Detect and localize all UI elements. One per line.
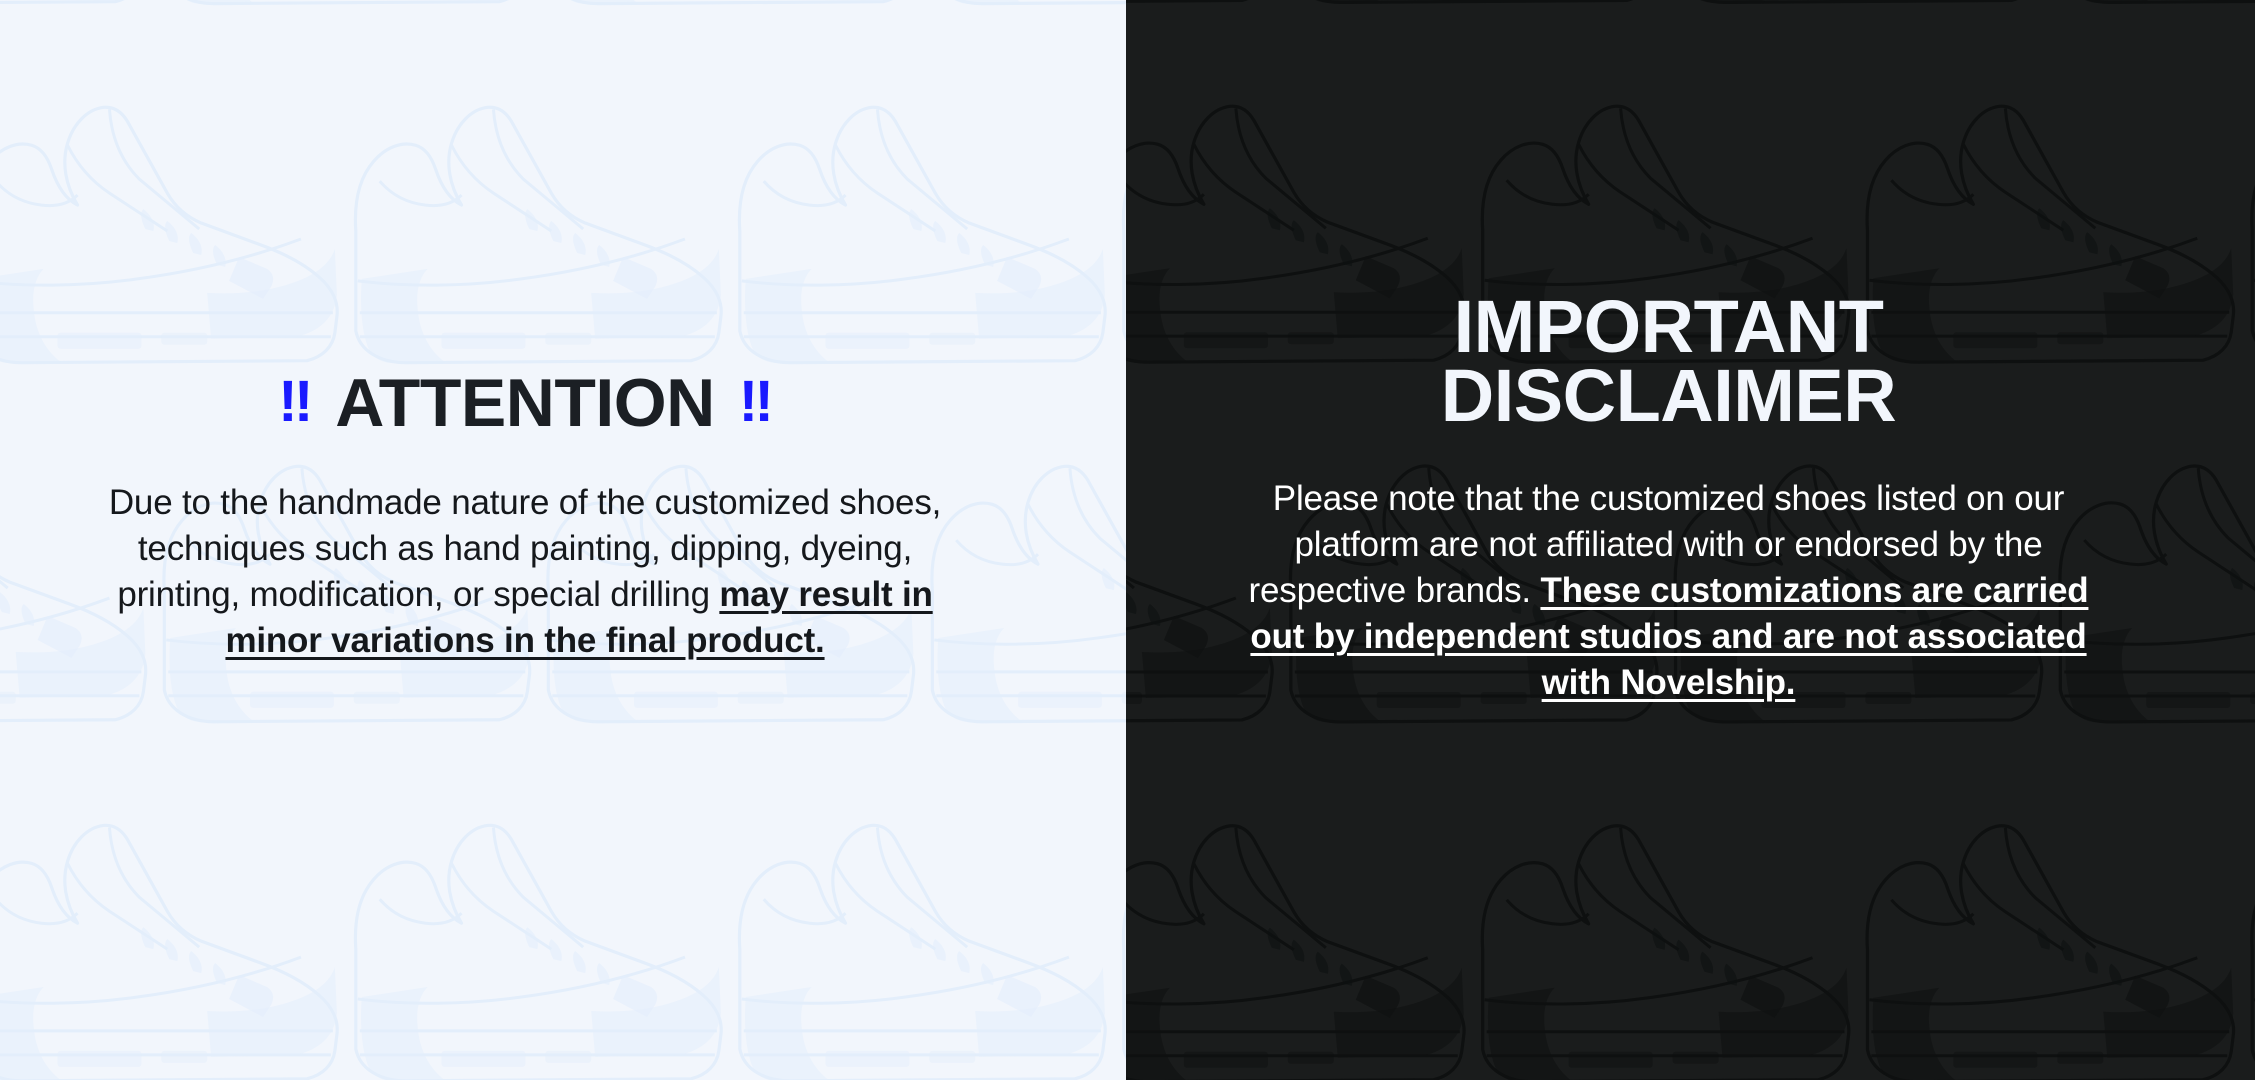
disclaimer-body: Please note that the customized shoes li…: [1239, 476, 2099, 707]
attention-panel: ‼ ATTENTION ‼ Due to the handmade nature…: [0, 0, 1126, 1080]
disclaimer-content: IMPORTANT DISCLAIMER Please note that th…: [1239, 293, 2099, 706]
double-exclamation-mark-icon-left: ‼: [278, 373, 311, 431]
disclaimer-panel: IMPORTANT DISCLAIMER Please note that th…: [1126, 0, 2255, 1080]
attention-content: ‼ ATTENTION ‼ Due to the handmade nature…: [95, 372, 955, 665]
disclaimer-heading-line-2: DISCLAIMER: [1239, 362, 2099, 430]
attention-heading: ‼ ATTENTION ‼: [95, 372, 955, 436]
disclaimer-heading: IMPORTANT DISCLAIMER: [1239, 293, 2099, 429]
disclaimer-banner: ‼ ATTENTION ‼ Due to the handmade nature…: [0, 0, 2255, 1080]
double-exclamation-mark-icon-right: ‼: [739, 373, 772, 431]
attention-body: Due to the handmade nature of the custom…: [95, 480, 955, 665]
disclaimer-heading-line-1: IMPORTANT: [1239, 293, 2099, 361]
attention-heading-text: ATTENTION: [335, 372, 715, 436]
